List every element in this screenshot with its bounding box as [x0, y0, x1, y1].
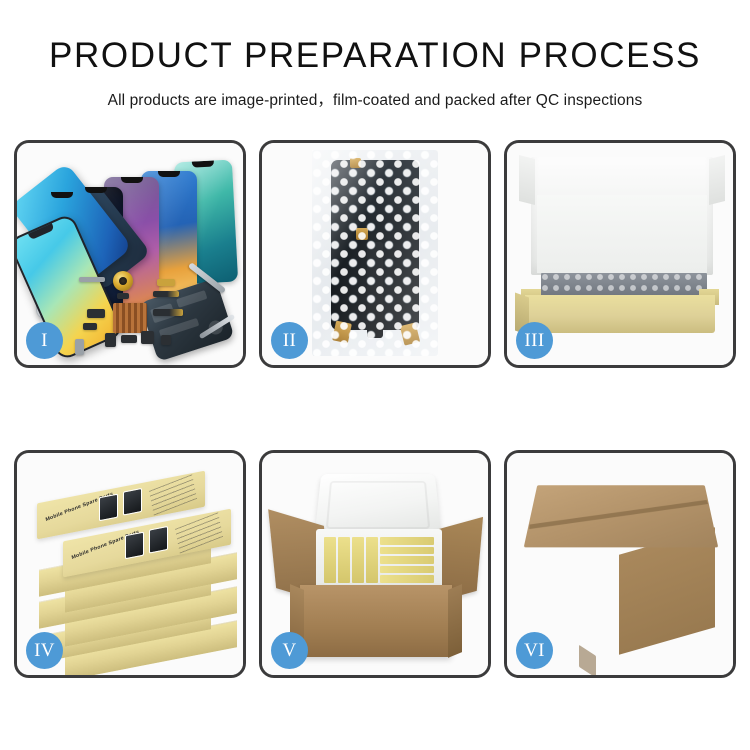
- step-panel-2: II: [259, 140, 491, 368]
- step-panel-5: V: [259, 450, 491, 678]
- spare-part: [75, 339, 84, 355]
- inner-boxes-right: [380, 537, 434, 583]
- page-subtitle: All products are image-printed，film-coat…: [0, 88, 750, 110]
- bubble-wrap-bag: [312, 150, 438, 356]
- step-badge-1: I: [26, 322, 63, 359]
- spare-part: [157, 279, 175, 286]
- spare-part: [87, 309, 105, 318]
- box-phone-swatch: [125, 532, 144, 560]
- carton-seam: [529, 500, 708, 529]
- step-badge-4: IV: [26, 632, 63, 669]
- box-spec-text: [175, 512, 223, 553]
- box-interior: [537, 195, 707, 273]
- step-panel-6: VI: [504, 450, 736, 678]
- spare-part: [117, 293, 129, 299]
- step-badge-2: II: [271, 322, 308, 359]
- box-phone-swatch: [123, 488, 142, 516]
- step-panel-3: III: [504, 140, 736, 368]
- box-phone-swatch: [149, 526, 168, 554]
- spare-part: [161, 335, 171, 345]
- inner-boxes-left: [324, 537, 378, 583]
- box-front-yellow: [525, 295, 715, 333]
- process-step-grid: I II III: [14, 140, 736, 678]
- spare-part: [105, 333, 116, 347]
- step-badge-6: VI: [516, 632, 553, 669]
- step-badge-5: V: [271, 632, 308, 669]
- page-header: PRODUCT PREPARATION PROCESS All products…: [0, 0, 750, 110]
- chip-grid-part: [113, 303, 147, 333]
- spare-part: [83, 323, 97, 330]
- carton-face-top: [524, 485, 719, 547]
- spare-part: [141, 331, 154, 344]
- carton-tape: [579, 645, 596, 675]
- step-badge-3: III: [516, 322, 553, 359]
- page-title: PRODUCT PREPARATION PROCESS: [0, 38, 750, 75]
- spare-part: [121, 335, 137, 343]
- step-panel-1: I: [14, 140, 246, 368]
- inner-boxes-group: [324, 537, 434, 583]
- box-spec-text: [149, 474, 197, 515]
- step-panel-4: Mobile Phone Spare Parts Mobile Phone Sp…: [14, 450, 246, 678]
- spare-part: [79, 277, 105, 282]
- flex-cable-part: [153, 309, 183, 316]
- flex-cable-part: [153, 291, 179, 297]
- carton-body: [300, 585, 452, 657]
- plastic-sheen: [312, 150, 438, 356]
- speaker-coil-part: [113, 271, 133, 291]
- box-phone-swatch: [99, 494, 118, 522]
